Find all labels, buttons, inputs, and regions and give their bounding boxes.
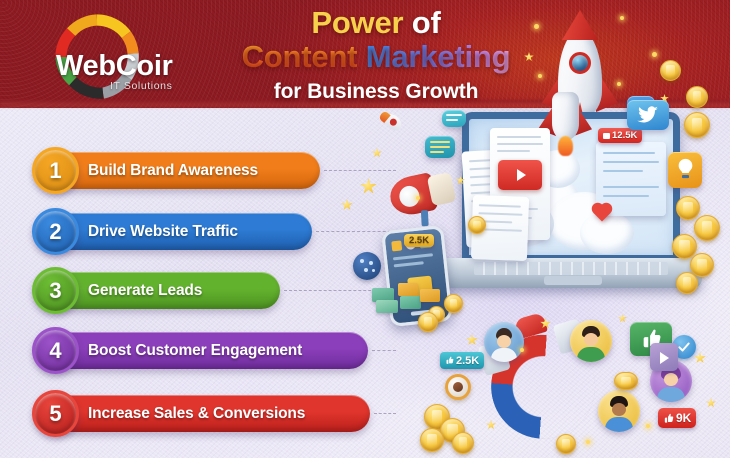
title-word-power: Power — [311, 5, 403, 40]
step-number-badge-1: 1 — [32, 147, 79, 194]
connector-dash-5 — [374, 413, 396, 414]
brand-name: WebCoir — [56, 50, 206, 83]
step-number-badge-4: 4 — [32, 327, 79, 374]
title-word-marketing: Marketing — [366, 39, 511, 74]
step-item-5[interactable]: 5Increase Sales & Conversions — [40, 395, 370, 432]
step-label-5: Increase Sales & Conversions — [88, 405, 305, 423]
step-label-4: Boost Customer Engagement — [88, 342, 302, 360]
step-number-badge-2: 2 — [32, 208, 79, 255]
step-label-3: Generate Leads — [88, 282, 202, 300]
step-label-1: Build Brand Awareness — [88, 162, 258, 180]
connector-dash-3 — [284, 290, 396, 291]
connector-dash-4 — [372, 350, 396, 351]
step-number-badge-5: 5 — [32, 390, 79, 437]
connector-dash-2 — [316, 231, 396, 232]
title-subtitle: for Business Growth — [196, 80, 556, 104]
connector-dash-1 — [324, 170, 396, 171]
brand-logo[interactable]: WebCoir IT Solutions — [38, 12, 198, 98]
title-line-2: Content Marketing — [196, 40, 556, 75]
step-item-2[interactable]: 2Drive Website Traffic — [40, 213, 312, 250]
title-word-content: Content — [242, 39, 358, 74]
step-number-badge-3: 3 — [32, 267, 79, 314]
step-label-2: Drive Website Traffic — [88, 223, 238, 241]
infographic-canvas: WebCoir IT Solutions Power of Content Ma… — [0, 0, 730, 458]
title-line-1: Power of — [196, 6, 556, 39]
step-item-1[interactable]: 1Build Brand Awareness — [40, 152, 320, 189]
page-title: Power of Content Marketing for Business … — [196, 6, 556, 104]
brand-tagline: IT Solutions — [110, 80, 172, 92]
step-item-4[interactable]: 4Boost Customer Engagement — [40, 332, 368, 369]
step-item-3[interactable]: 3Generate Leads — [40, 272, 280, 309]
title-word-of: of — [412, 5, 441, 40]
